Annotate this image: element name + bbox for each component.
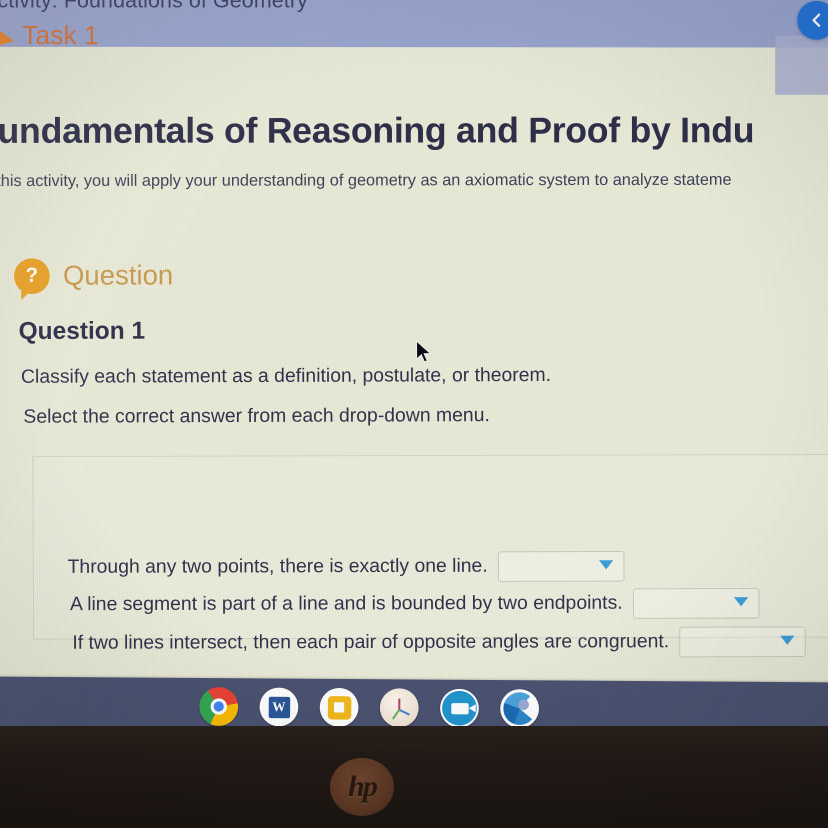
statement-text: If two lines intersect, then each pair o… bbox=[72, 631, 669, 655]
word-icon[interactable]: W bbox=[259, 687, 298, 726]
video-circle bbox=[442, 691, 477, 726]
main-content: Fundamentals of Reasoning and Proof by I… bbox=[0, 50, 828, 680]
laptop-screen: Activity: Foundations of Geometry Task 1… bbox=[0, 0, 828, 738]
word-glyph: W bbox=[268, 696, 290, 718]
keep-glyph bbox=[327, 696, 351, 720]
chrome-hub bbox=[211, 698, 227, 714]
caret-down-icon bbox=[780, 636, 794, 645]
statement-text: A line segment is part of a line and is … bbox=[70, 592, 623, 616]
clock-hands bbox=[386, 694, 413, 721]
chevron-left-icon bbox=[808, 12, 824, 28]
laptop-bezel bbox=[0, 726, 828, 828]
breadcrumb: Activity: Foundations of Geometry bbox=[0, 0, 615, 14]
video-call-icon[interactable] bbox=[440, 689, 479, 728]
taskbar-icon-strip: W bbox=[199, 687, 539, 728]
answer-dropdown-1[interactable] bbox=[498, 551, 625, 582]
mouse-cursor bbox=[414, 340, 435, 367]
chrome-icon[interactable] bbox=[199, 687, 238, 726]
caret-down-icon bbox=[599, 560, 613, 569]
page-title: Fundamentals of Reasoning and Proof by I… bbox=[0, 111, 754, 152]
statement-text: Through any two points, there is exactly… bbox=[68, 555, 488, 579]
swirl-glyph bbox=[503, 692, 536, 725]
keep-icon[interactable] bbox=[320, 688, 359, 727]
task-label: Task 1 bbox=[22, 20, 99, 52]
question-mark-icon: ? bbox=[14, 258, 50, 294]
statement-row: If two lines intersect, then each pair o… bbox=[72, 626, 806, 659]
instruction-line-1: Classify each statement as a definition,… bbox=[21, 365, 551, 389]
question-number-heading: Question 1 bbox=[19, 317, 146, 346]
photograph-of-laptop-screen: Activity: Foundations of Geometry Task 1… bbox=[0, 0, 828, 828]
camera-glyph bbox=[451, 703, 468, 714]
caret-down-icon bbox=[734, 597, 748, 606]
statement-row: Through any two points, there is exactly… bbox=[68, 551, 625, 583]
question-section-header: ? Question bbox=[14, 258, 173, 294]
hp-logo: hp bbox=[330, 758, 394, 816]
question-section-label: Question bbox=[63, 260, 173, 292]
swirl-browser-icon[interactable] bbox=[500, 689, 539, 728]
instruction-line-2: Select the correct answer from each drop… bbox=[23, 405, 490, 429]
clock-icon[interactable] bbox=[380, 688, 419, 727]
statement-row: A line segment is part of a line and is … bbox=[70, 588, 759, 620]
activity-description: n this activity, you will apply your und… bbox=[0, 172, 732, 192]
answer-dropdown-3[interactable] bbox=[679, 626, 806, 657]
answer-dropdown-2[interactable] bbox=[633, 588, 760, 619]
